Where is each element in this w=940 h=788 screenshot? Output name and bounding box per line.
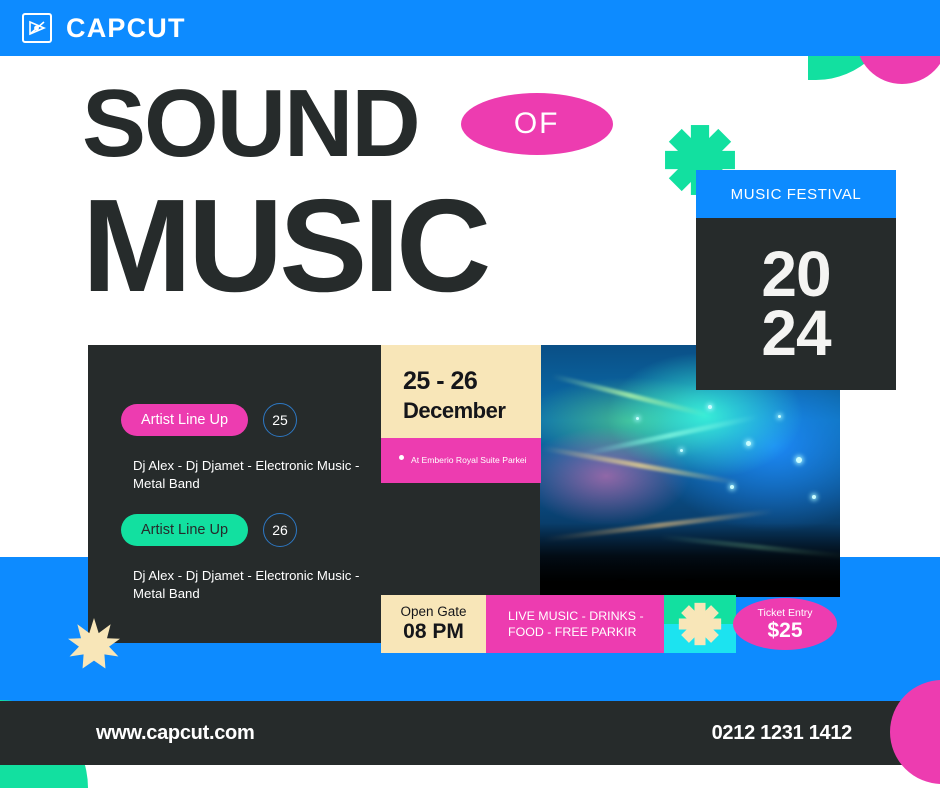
photo-spark (746, 441, 751, 446)
footer-bar: www.capcut.com 0212 1231 1412 (0, 701, 940, 765)
date-range: 25 - 26 (403, 367, 541, 396)
asterisk-cream-icon (677, 601, 723, 647)
photo-spark (636, 417, 639, 420)
lineup-row-1: Artist Line Up 25 (121, 403, 297, 437)
music-festival-label: MUSIC FESTIVAL (731, 186, 862, 203)
open-gate-box: Open Gate 08 PM (381, 595, 486, 653)
footer-website[interactable]: www.capcut.com (96, 722, 254, 745)
date-card: 25 - 26 December At Emberio Royal Suite … (381, 345, 541, 483)
poster-canvas: CAPCUT SOUND OF MUSIC MUSIC FESTIVAL 20 (0, 0, 940, 788)
headline-word-music: MUSIC (82, 188, 613, 304)
headline-line-1: SOUND OF (82, 78, 613, 170)
open-gate-label: Open Gate (400, 604, 466, 619)
open-gate-time: 08 PM (403, 620, 464, 644)
bullet-icon (399, 455, 404, 460)
year-badge: MUSIC FESTIVAL 20 24 (696, 170, 896, 390)
features-text: LIVE MUSIC - DRINKS - FOOD - FREE PARKIR (508, 608, 664, 640)
photo-crowd (540, 523, 840, 597)
photo-spark (708, 405, 712, 409)
capcut-logo-icon (22, 13, 52, 43)
lineup-pill-2-label: Artist Line Up (141, 522, 228, 538)
date-card-top: 25 - 26 December (381, 345, 541, 438)
ticket-entry-badge: Ticket Entry $25 (733, 598, 837, 650)
date-month: December (403, 398, 541, 424)
year-badge-body: 20 24 (696, 218, 896, 390)
lineup-artists-1: Dj Alex - Dj Djamet - Electronic Music -… (133, 457, 383, 493)
venue-text: At Emberio Royal Suite Parkei (411, 455, 527, 466)
photo-spark (796, 457, 802, 463)
brand-bar: CAPCUT (0, 0, 940, 56)
ticket-entry-price: $25 (767, 620, 802, 641)
headline-word-sound: SOUND (82, 80, 419, 168)
lineup-day-2: 26 (263, 513, 297, 547)
photo-spark (778, 415, 781, 418)
asterisk-box (664, 595, 736, 653)
photo-spark (730, 485, 734, 489)
year-badge-header: MUSIC FESTIVAL (696, 170, 896, 218)
lineup-pill-2: Artist Line Up (121, 514, 248, 546)
lineup-row-2: Artist Line Up 26 (121, 513, 297, 547)
photo-spark (812, 495, 816, 499)
lineup-artists-2: Dj Alex - Dj Djamet - Electronic Music -… (133, 567, 383, 603)
star-burst-icon (68, 618, 120, 675)
lineup-pill-1: Artist Line Up (121, 404, 248, 436)
lineup-day-1: 25 (263, 403, 297, 437)
brand-name: CAPCUT (66, 13, 186, 44)
of-label: OF (514, 107, 560, 141)
lineup-pill-1-label: Artist Line Up (141, 412, 228, 428)
year-bottom: 24 (761, 304, 830, 363)
venue-bar: At Emberio Royal Suite Parkei (381, 438, 541, 483)
footer-phone[interactable]: 0212 1231 1412 (712, 722, 852, 745)
ticket-entry-label: Ticket Entry (757, 607, 812, 619)
of-pill: OF (461, 93, 613, 155)
year-top: 20 (761, 245, 830, 304)
features-box: LIVE MUSIC - DRINKS - FOOD - FREE PARKIR (486, 595, 664, 653)
photo-spark (680, 449, 683, 452)
headline-block: SOUND OF MUSIC (82, 78, 613, 304)
